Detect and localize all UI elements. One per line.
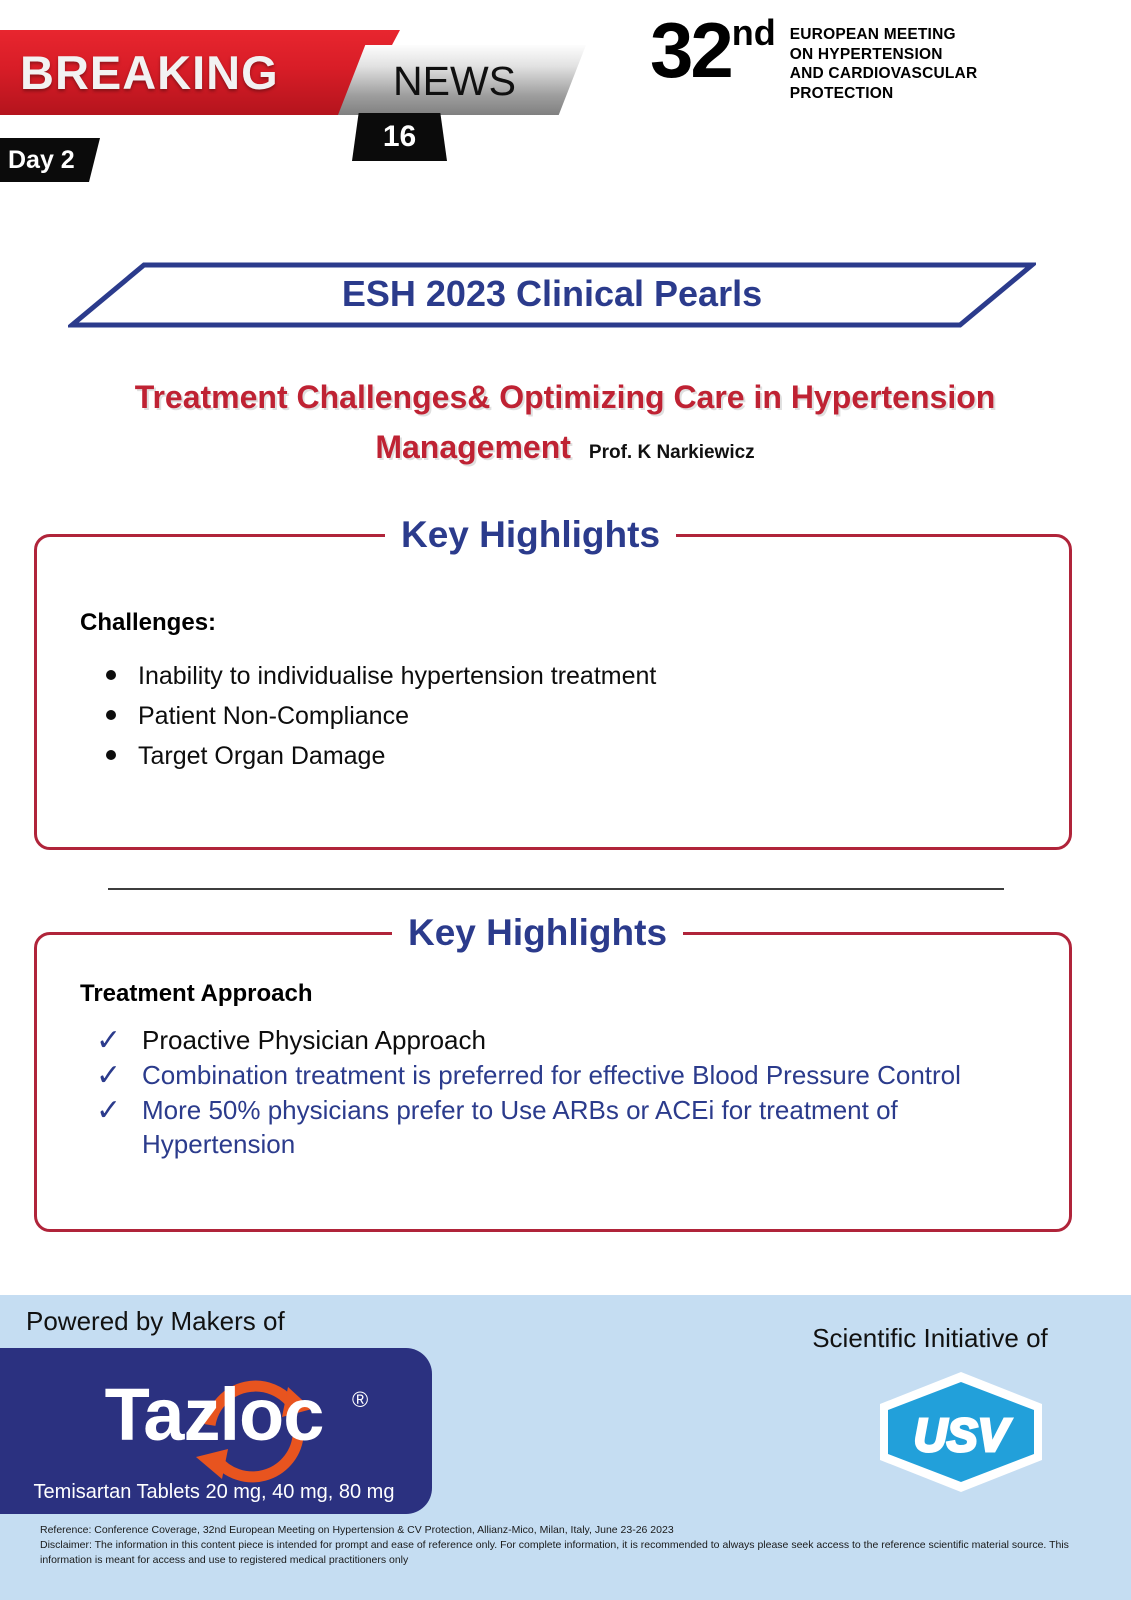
list-item: Patient Non-Compliance <box>86 696 986 736</box>
scientific-initiative-label: Scientific Initiative of <box>780 1320 1080 1356</box>
check-icon: ✓ <box>96 1097 126 1125</box>
conference-name-line-2: ON HYPERTENSION <box>790 45 978 65</box>
challenges-subheading: Challenges: <box>80 608 216 638</box>
conference-edition-ordinal: nd <box>732 14 776 52</box>
issue-number-label: 16 <box>352 116 447 158</box>
list-item: ✓Proactive Physician Approach <box>78 1023 1058 1057</box>
list-item-label: Patient Non-Compliance <box>138 702 409 730</box>
list-item: ✓More 50% physicians prefer to Use ARBs … <box>78 1093 1058 1161</box>
registered-mark-icon: ® <box>352 1387 368 1413</box>
conference-name-line-3: AND CARDIOVASCULAR <box>790 64 978 84</box>
page-title: ESH 2023 Clinical Pearls <box>68 270 1036 318</box>
breaking-label: BREAKING <box>20 34 279 112</box>
list-item-label: Target Organ Damage <box>138 742 385 770</box>
conference-name-line-4: PROTECTION <box>790 84 978 104</box>
usv-logo-text: USV <box>914 1409 1012 1461</box>
tazloc-brand-subtitle: Temisartan Tablets 20 mg, 40 mg, 80 mg <box>14 1478 414 1506</box>
powered-by-label: Powered by Makers of <box>26 1303 285 1339</box>
treatment-approach-subheading: Treatment Approach <box>80 979 313 1009</box>
bullet-dot-icon <box>106 710 116 720</box>
reference-text: Reference: Conference Coverage, 32nd Eur… <box>40 1523 1110 1538</box>
list-item: Inability to individualise hypertension … <box>86 656 986 696</box>
page-header: BREAKING NEWS 16 Day 2 32 nd EUROPEAN ME… <box>0 0 1131 200</box>
conference-logo: 32 nd EUROPEAN MEETING ON HYPERTENSION A… <box>650 12 977 103</box>
subtitle-block: Treatment Challenges& Optimizing Care in… <box>40 372 1090 472</box>
check-icon: ✓ <box>96 1027 126 1055</box>
disclaimer-text: Disclaimer: The information in this cont… <box>40 1538 1110 1568</box>
reference-disclaimer-block: Reference: Conference Coverage, 32nd Eur… <box>40 1523 1110 1568</box>
check-icon: ✓ <box>96 1062 126 1090</box>
list-item-label: Combination treatment is preferred for e… <box>142 1060 961 1090</box>
session-title: Treatment Challenges& Optimizing Care in… <box>135 379 996 465</box>
conference-edition-number: 32 <box>650 12 731 88</box>
bullet-dot-icon <box>106 670 116 680</box>
presenter-name: Prof. K Narkiewicz <box>589 442 755 463</box>
key-highlights-legend-2: Key Highlights <box>392 910 683 956</box>
list-item-label: Proactive Physician Approach <box>142 1025 486 1055</box>
tazloc-brand-name: Tazloc <box>14 1369 414 1461</box>
bullet-dot-icon <box>106 750 116 760</box>
treatment-approach-list: ✓Proactive Physician Approach ✓Combinati… <box>78 1023 1058 1162</box>
conference-name-line-1: EUROPEAN MEETING <box>790 25 978 45</box>
usv-company-logo: USV <box>872 1368 1050 1496</box>
list-item-label: Inability to individualise hypertension … <box>138 662 656 690</box>
news-label: NEWS <box>393 50 516 112</box>
key-highlights-legend-1: Key Highlights <box>385 512 676 558</box>
conference-name: EUROPEAN MEETING ON HYPERTENSION AND CAR… <box>790 25 978 103</box>
challenges-list: Inability to individualise hypertension … <box>86 656 986 776</box>
day-label: Day 2 <box>8 141 75 179</box>
list-item: ✓Combination treatment is preferred for … <box>78 1058 1058 1092</box>
section-divider <box>108 888 1004 890</box>
list-item-label: More 50% physicians prefer to Use ARBs o… <box>142 1095 898 1159</box>
list-item: Target Organ Damage <box>86 736 986 776</box>
